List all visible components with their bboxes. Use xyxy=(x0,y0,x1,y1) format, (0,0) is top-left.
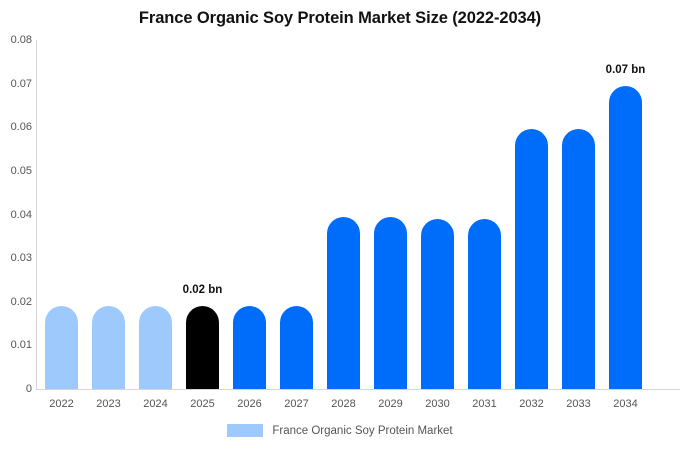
bar-group[interactable]: 0.07 bn xyxy=(609,40,642,389)
chart-container: France Organic Soy Protein Market Size (… xyxy=(0,0,680,450)
bar-2031[interactable] xyxy=(468,219,501,389)
bar-group[interactable] xyxy=(468,40,501,389)
bar-group[interactable]: 0.02 bn xyxy=(186,40,219,389)
bar-group[interactable] xyxy=(139,40,172,389)
bar-group[interactable] xyxy=(92,40,125,389)
y-axis-tick-label: 0.04 xyxy=(2,209,32,221)
x-axis-tick-label-2034: 2034 xyxy=(601,398,651,410)
bar-2025[interactable] xyxy=(186,306,219,389)
bar-group[interactable] xyxy=(327,40,360,389)
x-axis-tick-label-2033: 2033 xyxy=(554,398,604,410)
bar-group[interactable] xyxy=(562,40,595,389)
x-axis-tick-label-2024: 2024 xyxy=(131,398,181,410)
x-axis-tick-label-2025: 2025 xyxy=(178,398,228,410)
x-axis-tick-label-2026: 2026 xyxy=(225,398,275,410)
y-axis-tick-label: 0 xyxy=(2,383,32,395)
chart-title: France Organic Soy Protein Market Size (… xyxy=(0,9,680,28)
bar-group[interactable] xyxy=(421,40,454,389)
bar-group[interactable] xyxy=(374,40,407,389)
y-axis-tick-label: 0.07 xyxy=(2,78,32,90)
x-axis-tick-label-2027: 2027 xyxy=(272,398,322,410)
bar-group[interactable] xyxy=(515,40,548,389)
legend-swatch-france-organic-soy-protein-market xyxy=(227,424,263,437)
y-axis-tick-label: 0.02 xyxy=(2,296,32,308)
x-axis-tick-label-2023: 2023 xyxy=(84,398,134,410)
bar-group[interactable] xyxy=(280,40,313,389)
bar-2033[interactable] xyxy=(562,129,595,389)
y-axis-tick-label: 0.01 xyxy=(2,339,32,351)
bar-2030[interactable] xyxy=(421,219,454,389)
y-axis-tick-label: 0.05 xyxy=(2,165,32,177)
x-axis-tick-label-2022: 2022 xyxy=(37,398,87,410)
bar-2034[interactable] xyxy=(609,86,642,389)
bar-value-label-2025: 0.02 bn xyxy=(183,284,223,296)
y-axis-tick-label: 0.08 xyxy=(2,34,32,46)
y-axis-tick-labels: 00.010.020.030.040.050.060.070.08 xyxy=(0,0,32,450)
bar-2028[interactable] xyxy=(327,217,360,389)
x-axis-line xyxy=(36,389,680,390)
bar-value-label-2034: 0.07 bn xyxy=(606,64,646,76)
bar-2023[interactable] xyxy=(92,306,125,389)
x-axis-tick-label-2030: 2030 xyxy=(413,398,463,410)
bar-group[interactable] xyxy=(233,40,266,389)
x-axis-tick-label-2031: 2031 xyxy=(460,398,510,410)
bar-2026[interactable] xyxy=(233,306,266,389)
y-axis-tick-label: 0.03 xyxy=(2,252,32,264)
chart-legend: France Organic Soy Protein Market xyxy=(0,424,680,437)
bar-group[interactable] xyxy=(45,40,78,389)
bar-2022[interactable] xyxy=(45,306,78,389)
y-axis-tick-label: 0.06 xyxy=(2,121,32,133)
bar-2032[interactable] xyxy=(515,129,548,389)
bar-2027[interactable] xyxy=(280,306,313,389)
legend-label-france-organic-soy-protein-market: France Organic Soy Protein Market xyxy=(272,425,452,437)
bar-2024[interactable] xyxy=(139,306,172,389)
bar-2029[interactable] xyxy=(374,217,407,389)
x-axis-tick-label-2029: 2029 xyxy=(366,398,416,410)
x-axis-tick-label-2028: 2028 xyxy=(319,398,369,410)
x-axis-tick-label-2032: 2032 xyxy=(507,398,557,410)
